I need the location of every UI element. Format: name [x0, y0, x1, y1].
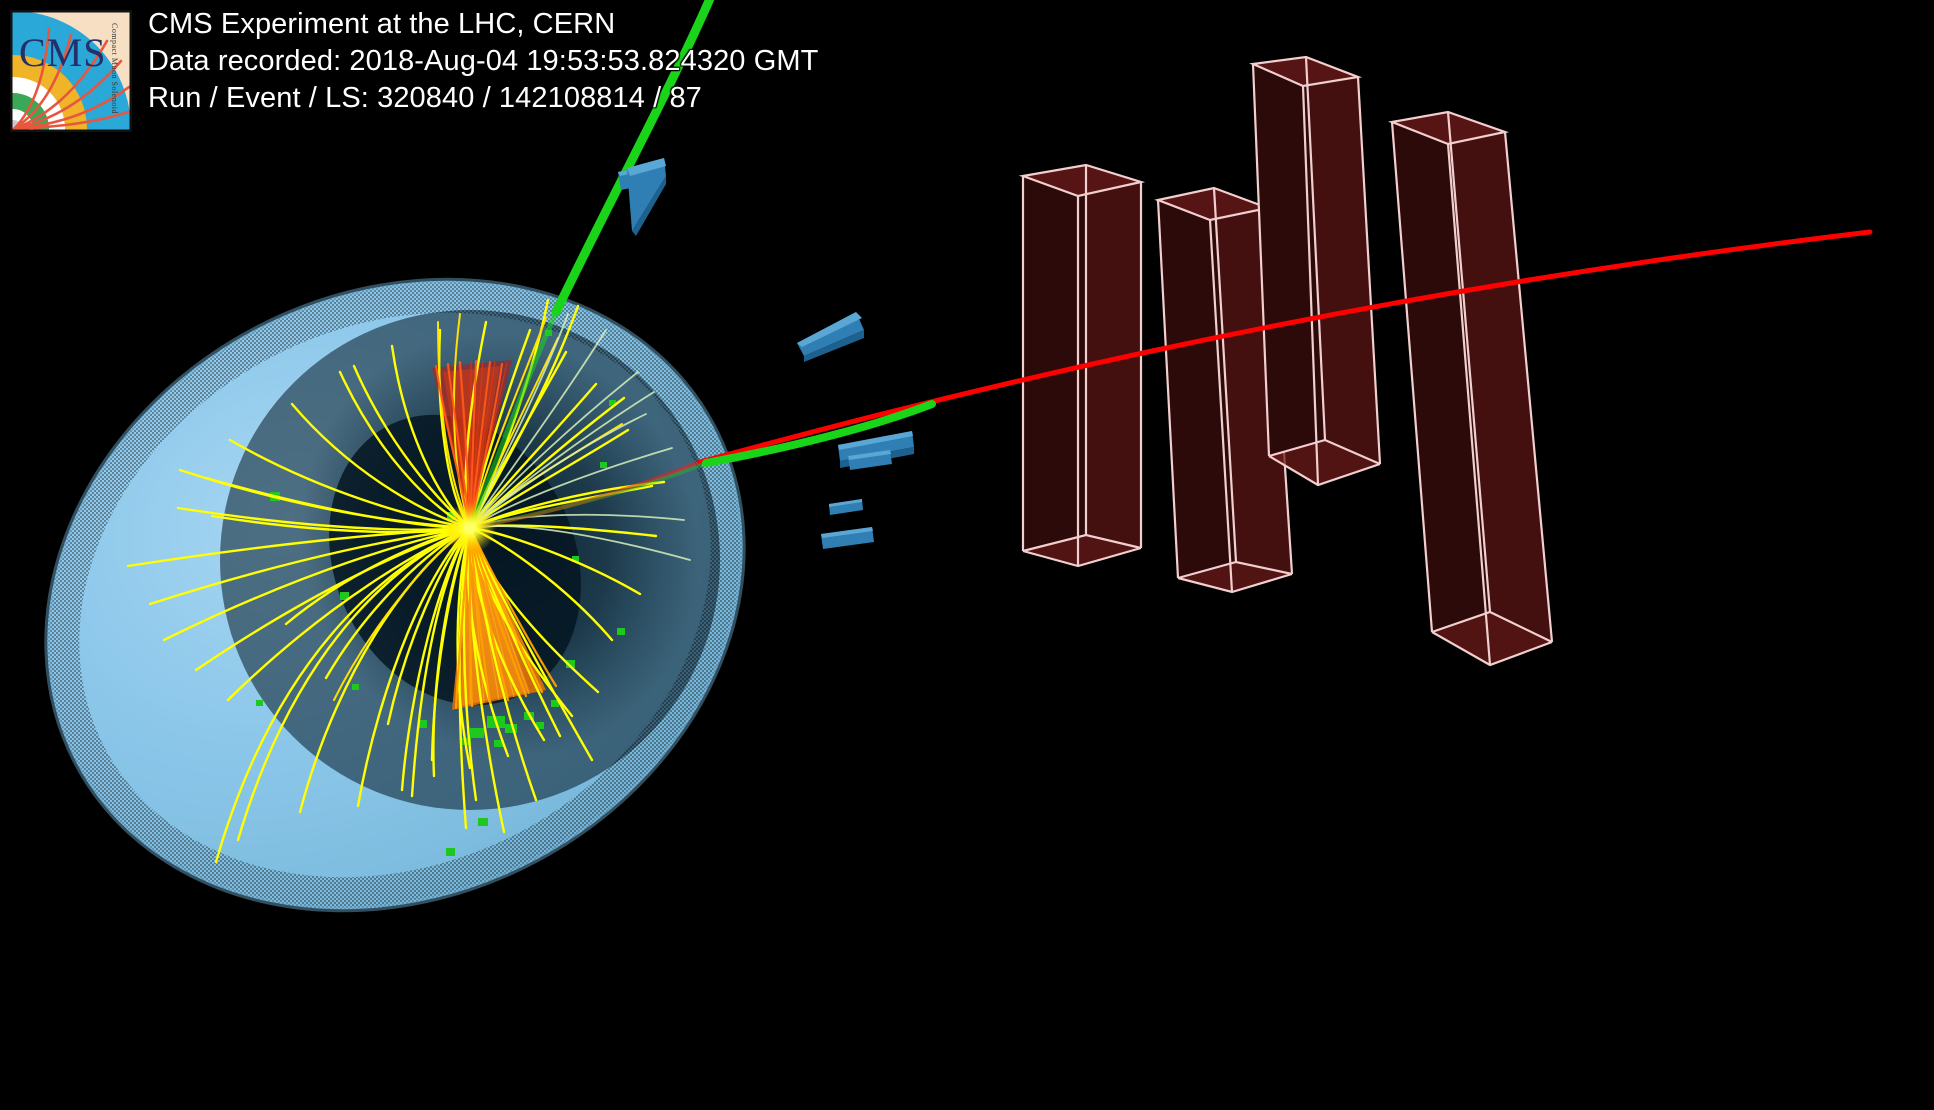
cms-logo-vertical-text: Compact Muon Solenoid	[110, 23, 119, 114]
muon-chamber-3	[1253, 57, 1380, 485]
event-info-text-block: CMS Experiment at the LHC, CERN Data rec…	[148, 6, 818, 116]
header-overlay: CMS Compact Muon Solenoid CMS Experiment…	[0, 0, 818, 132]
run-event-ls-line: Run / Event / LS: 320840 / 142108814 / 8…	[148, 80, 818, 117]
interaction-vertex	[444, 502, 496, 554]
cms-logo: CMS Compact Muon Solenoid	[10, 10, 132, 132]
cms-event-3d-view	[0, 0, 1934, 1110]
experiment-line: CMS Experiment at the LHC, CERN	[148, 6, 818, 43]
event-display-canvas: CMS Compact Muon Solenoid CMS Experiment…	[0, 0, 1934, 1110]
cms-logo-text: CMS	[19, 29, 107, 76]
data-recorded-line: Data recorded: 2018-Aug-04 19:53:53.8243…	[148, 43, 818, 80]
